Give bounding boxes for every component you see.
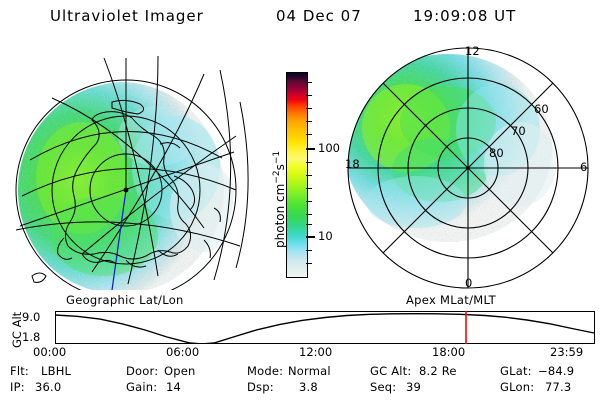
status-dsp-value: 3.8 [299,380,318,394]
status-seq-key: Seq: [370,380,396,394]
mlt-label-6: 6 [580,160,587,174]
mlat-label-70: 70 [511,124,526,138]
geographic-panel [8,40,253,290]
status-glon-key: GLon: [500,380,534,394]
orbit-x-tick-0: 00:00 [33,345,66,359]
colorbar-tick-100-mark [306,148,315,150]
status-gcalt-value: 8.2 Re [419,364,457,378]
mlt-label-18: 18 [345,157,360,171]
status-mode-value: Normal [288,364,331,378]
status-gcalt-key: GC Alt: [370,364,411,378]
orbit-y-tick-high: 9.0 [22,310,40,324]
orbit-y-tick-low: 1.8 [22,330,40,344]
colorbar-tick-100: 100 [318,141,340,155]
status-glat-key: GLat: [500,364,532,378]
pole-marker [124,188,129,193]
altitude-curve [55,314,594,344]
right-panel-caption: Apex MLat/MLT [406,293,496,307]
mlat-label-80: 80 [489,146,504,160]
colorbar-axis-label: photon cm−2s−1 [272,151,287,248]
status-ip-key: IP: [10,380,25,394]
status-flt-value: LBHL [41,364,71,378]
status-flt-key: Flt: [10,364,29,378]
orbit-altitude-plot [55,311,595,344]
left-panel-caption: Geographic Lat/Lon [66,293,184,307]
status-glat-value: −84.9 [538,364,574,378]
orbit-x-tick-2: 12:00 [299,345,332,359]
status-ip-value: 36.0 [35,380,61,394]
orbit-x-tick-1: 06:00 [166,345,199,359]
status-gain-value: 14 [166,380,181,394]
status-mode-key: Mode: [247,364,283,378]
observation-date: 04 Dec 07 [276,7,362,25]
orbit-x-tick-4: 23:59 [550,345,583,359]
mlat-label-60: 60 [534,102,549,116]
orbit-x-tick-3: 18:00 [432,345,465,359]
status-door-key: Door: [126,364,158,378]
status-seq-value: 39 [406,380,421,394]
intensity-colorbar [286,72,308,278]
colorbar-tick-10-mark [306,236,315,238]
mlt-label-0: 0 [465,276,472,290]
instrument-title: Ultraviolet Imager [50,7,204,25]
mlt-spokes [348,48,588,288]
status-door-value: Open [164,364,196,378]
mlt-label-12: 12 [465,44,480,58]
colorbar-tick-10: 10 [318,229,333,243]
observation-time: 19:09:08 UT [413,7,516,25]
status-dsp-key: Dsp: [247,380,274,394]
status-gain-key: Gain: [126,380,157,394]
status-glon-value: 77.3 [545,380,571,394]
apex-polar-panel [344,44,594,294]
